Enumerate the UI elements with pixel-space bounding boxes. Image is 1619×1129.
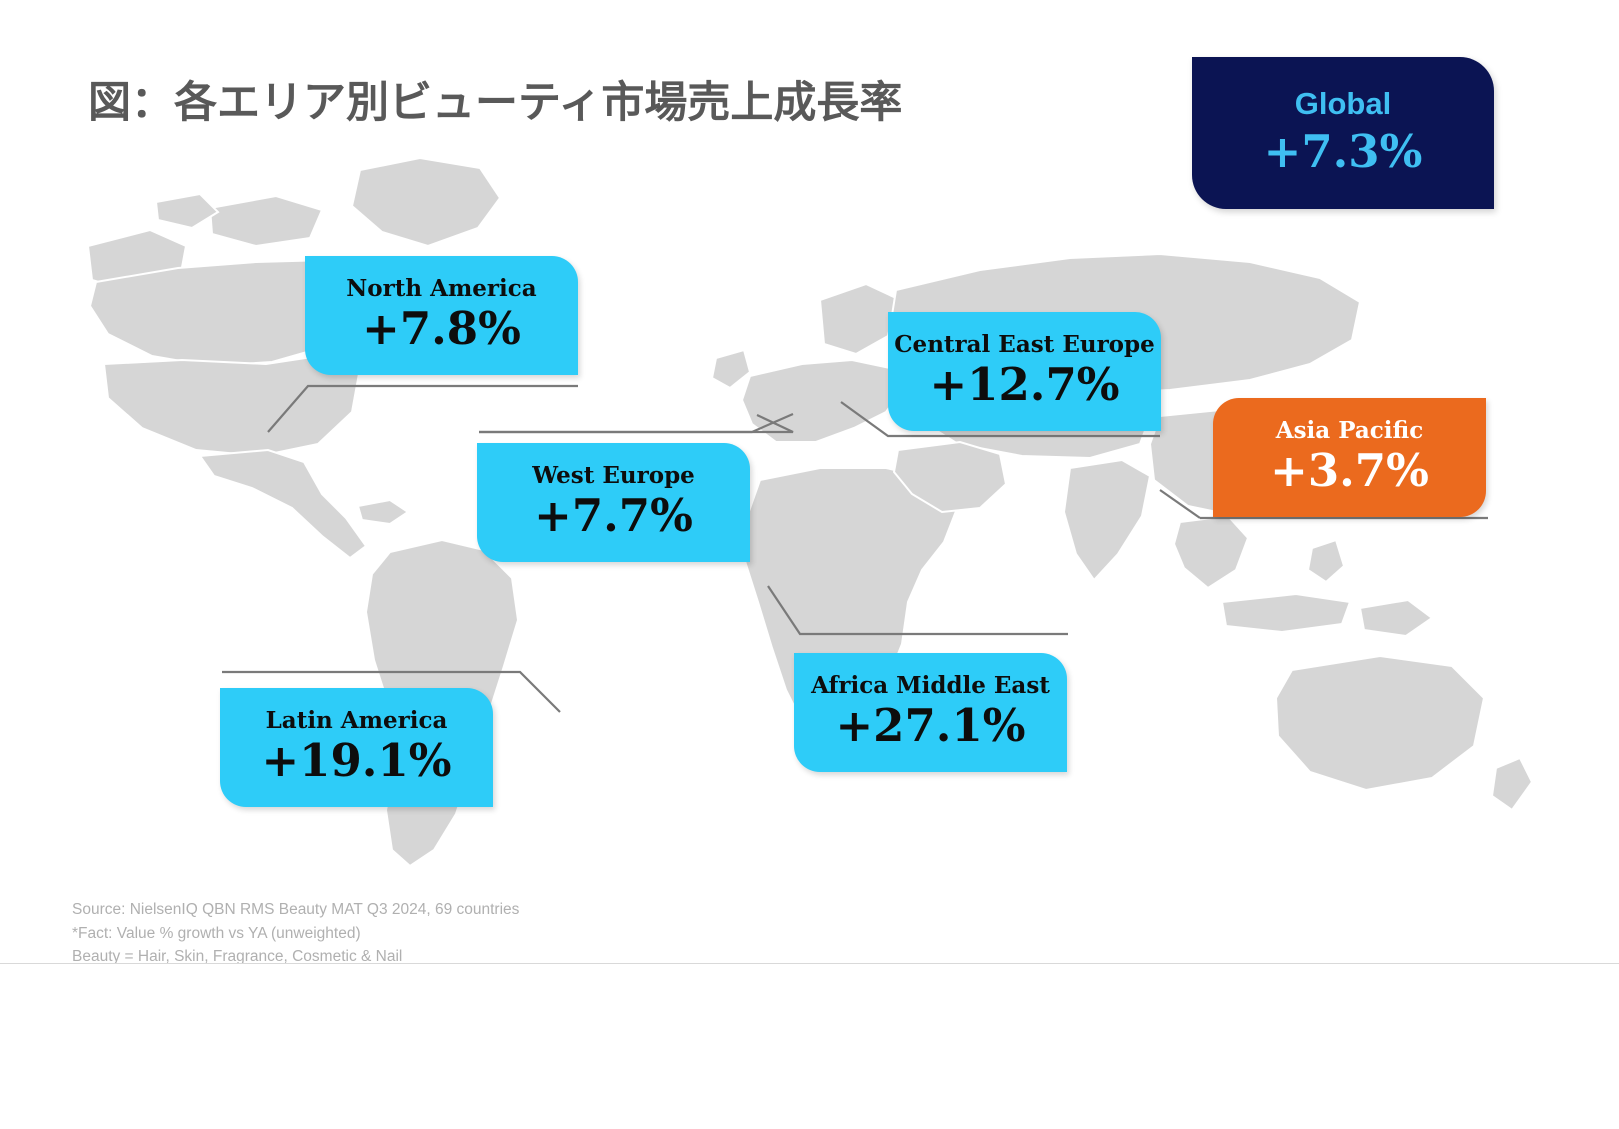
callout-region-label: Latin America [266,708,448,733]
callout-value: +19.1% [261,735,451,787]
callout-region-label: Asia Pacific [1276,418,1424,443]
callout-value: +7.8% [362,303,521,355]
callout-value: +27.1% [835,700,1025,752]
source-notes: Source: NielsenIQ QBN RMS Beauty MAT Q3 … [72,898,519,969]
callout-west-europe: West Europe +7.7% [477,443,750,562]
global-value: +7.3% [1264,125,1423,179]
source-note-line-2: *Fact: Value % growth vs YA (unweighted) [72,922,519,946]
callout-region-label: West Europe [532,463,695,488]
callout-region-label: Africa Middle East [811,673,1050,698]
callout-central-east-europe: Central East Europe +12.7% [888,312,1161,431]
callout-north-america: North America +7.8% [305,256,578,375]
global-label: Global [1295,87,1391,121]
callout-latin-america: Latin America +19.1% [220,688,493,807]
slide-canvas: 図：各エリア別ビューティ市場売上成長率 Global +7.3% North A… [0,0,1619,1129]
callout-value: +3.7% [1270,445,1429,497]
callout-region-label: North America [346,276,536,301]
callout-value: +7.7% [534,490,693,542]
footer: © 2025 Nielsen Consumer LLC. All rights … [0,964,1619,1129]
callout-africa-middle-east: Africa Middle East +27.1% [794,653,1067,772]
source-note-line-1: Source: NielsenIQ QBN RMS Beauty MAT Q3 … [72,898,519,922]
callout-region-label: Central East Europe [894,332,1155,357]
page-title: 図：各エリア別ビューティ市場売上成長率 [88,68,902,130]
callout-value: +12.7% [929,359,1119,411]
global-summary-badge: Global +7.3% [1192,57,1494,209]
callout-asia-pacific: Asia Pacific +3.7% [1213,398,1486,517]
